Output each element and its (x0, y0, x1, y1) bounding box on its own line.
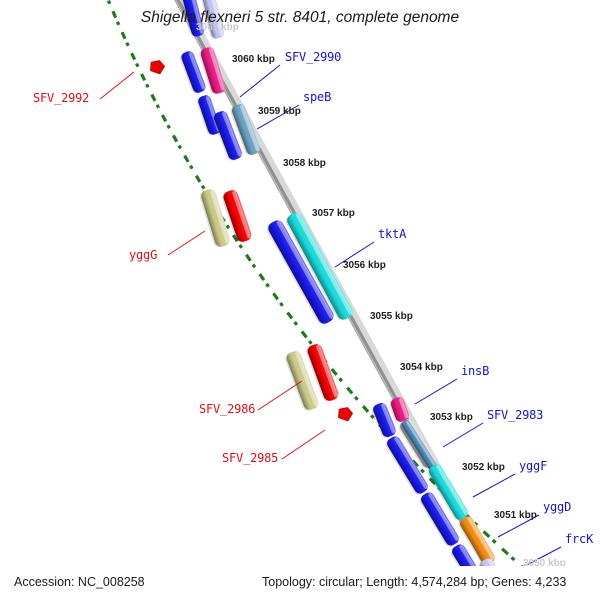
gene-label[interactable]: speB (303, 90, 331, 104)
gene-label[interactable]: SFV_2986 (199, 402, 255, 416)
gene-label[interactable]: SFV_2983 (487, 408, 543, 422)
page-title: Shigella flexneri 5 str. 8401, complete … (141, 9, 460, 26)
gene-label-leader (415, 379, 457, 404)
gene-label-leader (473, 474, 515, 497)
status-bar: Accession: NC_008258 Topology: circular;… (0, 566, 600, 600)
scale-tick-label: 3055 kbp (370, 311, 413, 322)
gene-label[interactable]: frcK (565, 532, 594, 546)
gene-label-leader (240, 65, 280, 97)
gene-label-leader (443, 423, 483, 447)
gene-label[interactable]: yggF (519, 459, 547, 473)
genome-viewer-canvas[interactable]: 3061 kbp3060 kbp3059 kbp3058 kbp3057 kbp… (0, 0, 600, 600)
scale-tick-label: 3060 kbp (232, 54, 275, 65)
scale-tick-label: 3059 kbp (258, 106, 301, 117)
scale-tick-label: 3054 kbp (400, 362, 443, 373)
gene-label[interactable]: SFV_2992 (33, 91, 89, 105)
gene-label[interactable]: yggD (543, 500, 571, 514)
scale-tick-label: 3058 kbp (283, 158, 326, 169)
gene-label-leader (258, 381, 302, 410)
gene-label[interactable]: insB (461, 364, 489, 378)
gene-label-leader (100, 72, 134, 99)
scale-tick-label: 3051 kbp (494, 510, 537, 521)
gene-label-leader (282, 430, 325, 459)
gene-label[interactable]: yggG (129, 248, 157, 262)
annotation-layer[interactable]: 3061 kbp3060 kbp3059 kbp3058 kbp3057 kbp… (0, 0, 600, 600)
gene-label[interactable]: SFV_2990 (285, 50, 341, 64)
topology-label: Topology: circular; Length: 4,574,284 bp… (262, 575, 566, 589)
gene-label[interactable]: tktA (378, 227, 407, 241)
gene-label[interactable]: SFV_2985 (222, 451, 278, 465)
scale-tick-label: 3057 kbp (312, 208, 355, 219)
scale-tick-label: 3052 kbp (462, 462, 505, 473)
gene-label-leader (168, 231, 205, 255)
accession-label: Accession: NC_008258 (14, 575, 145, 589)
scale-tick-label: 3056 kbp (343, 260, 386, 271)
scale-tick-label: 3053 kbp (430, 412, 473, 423)
